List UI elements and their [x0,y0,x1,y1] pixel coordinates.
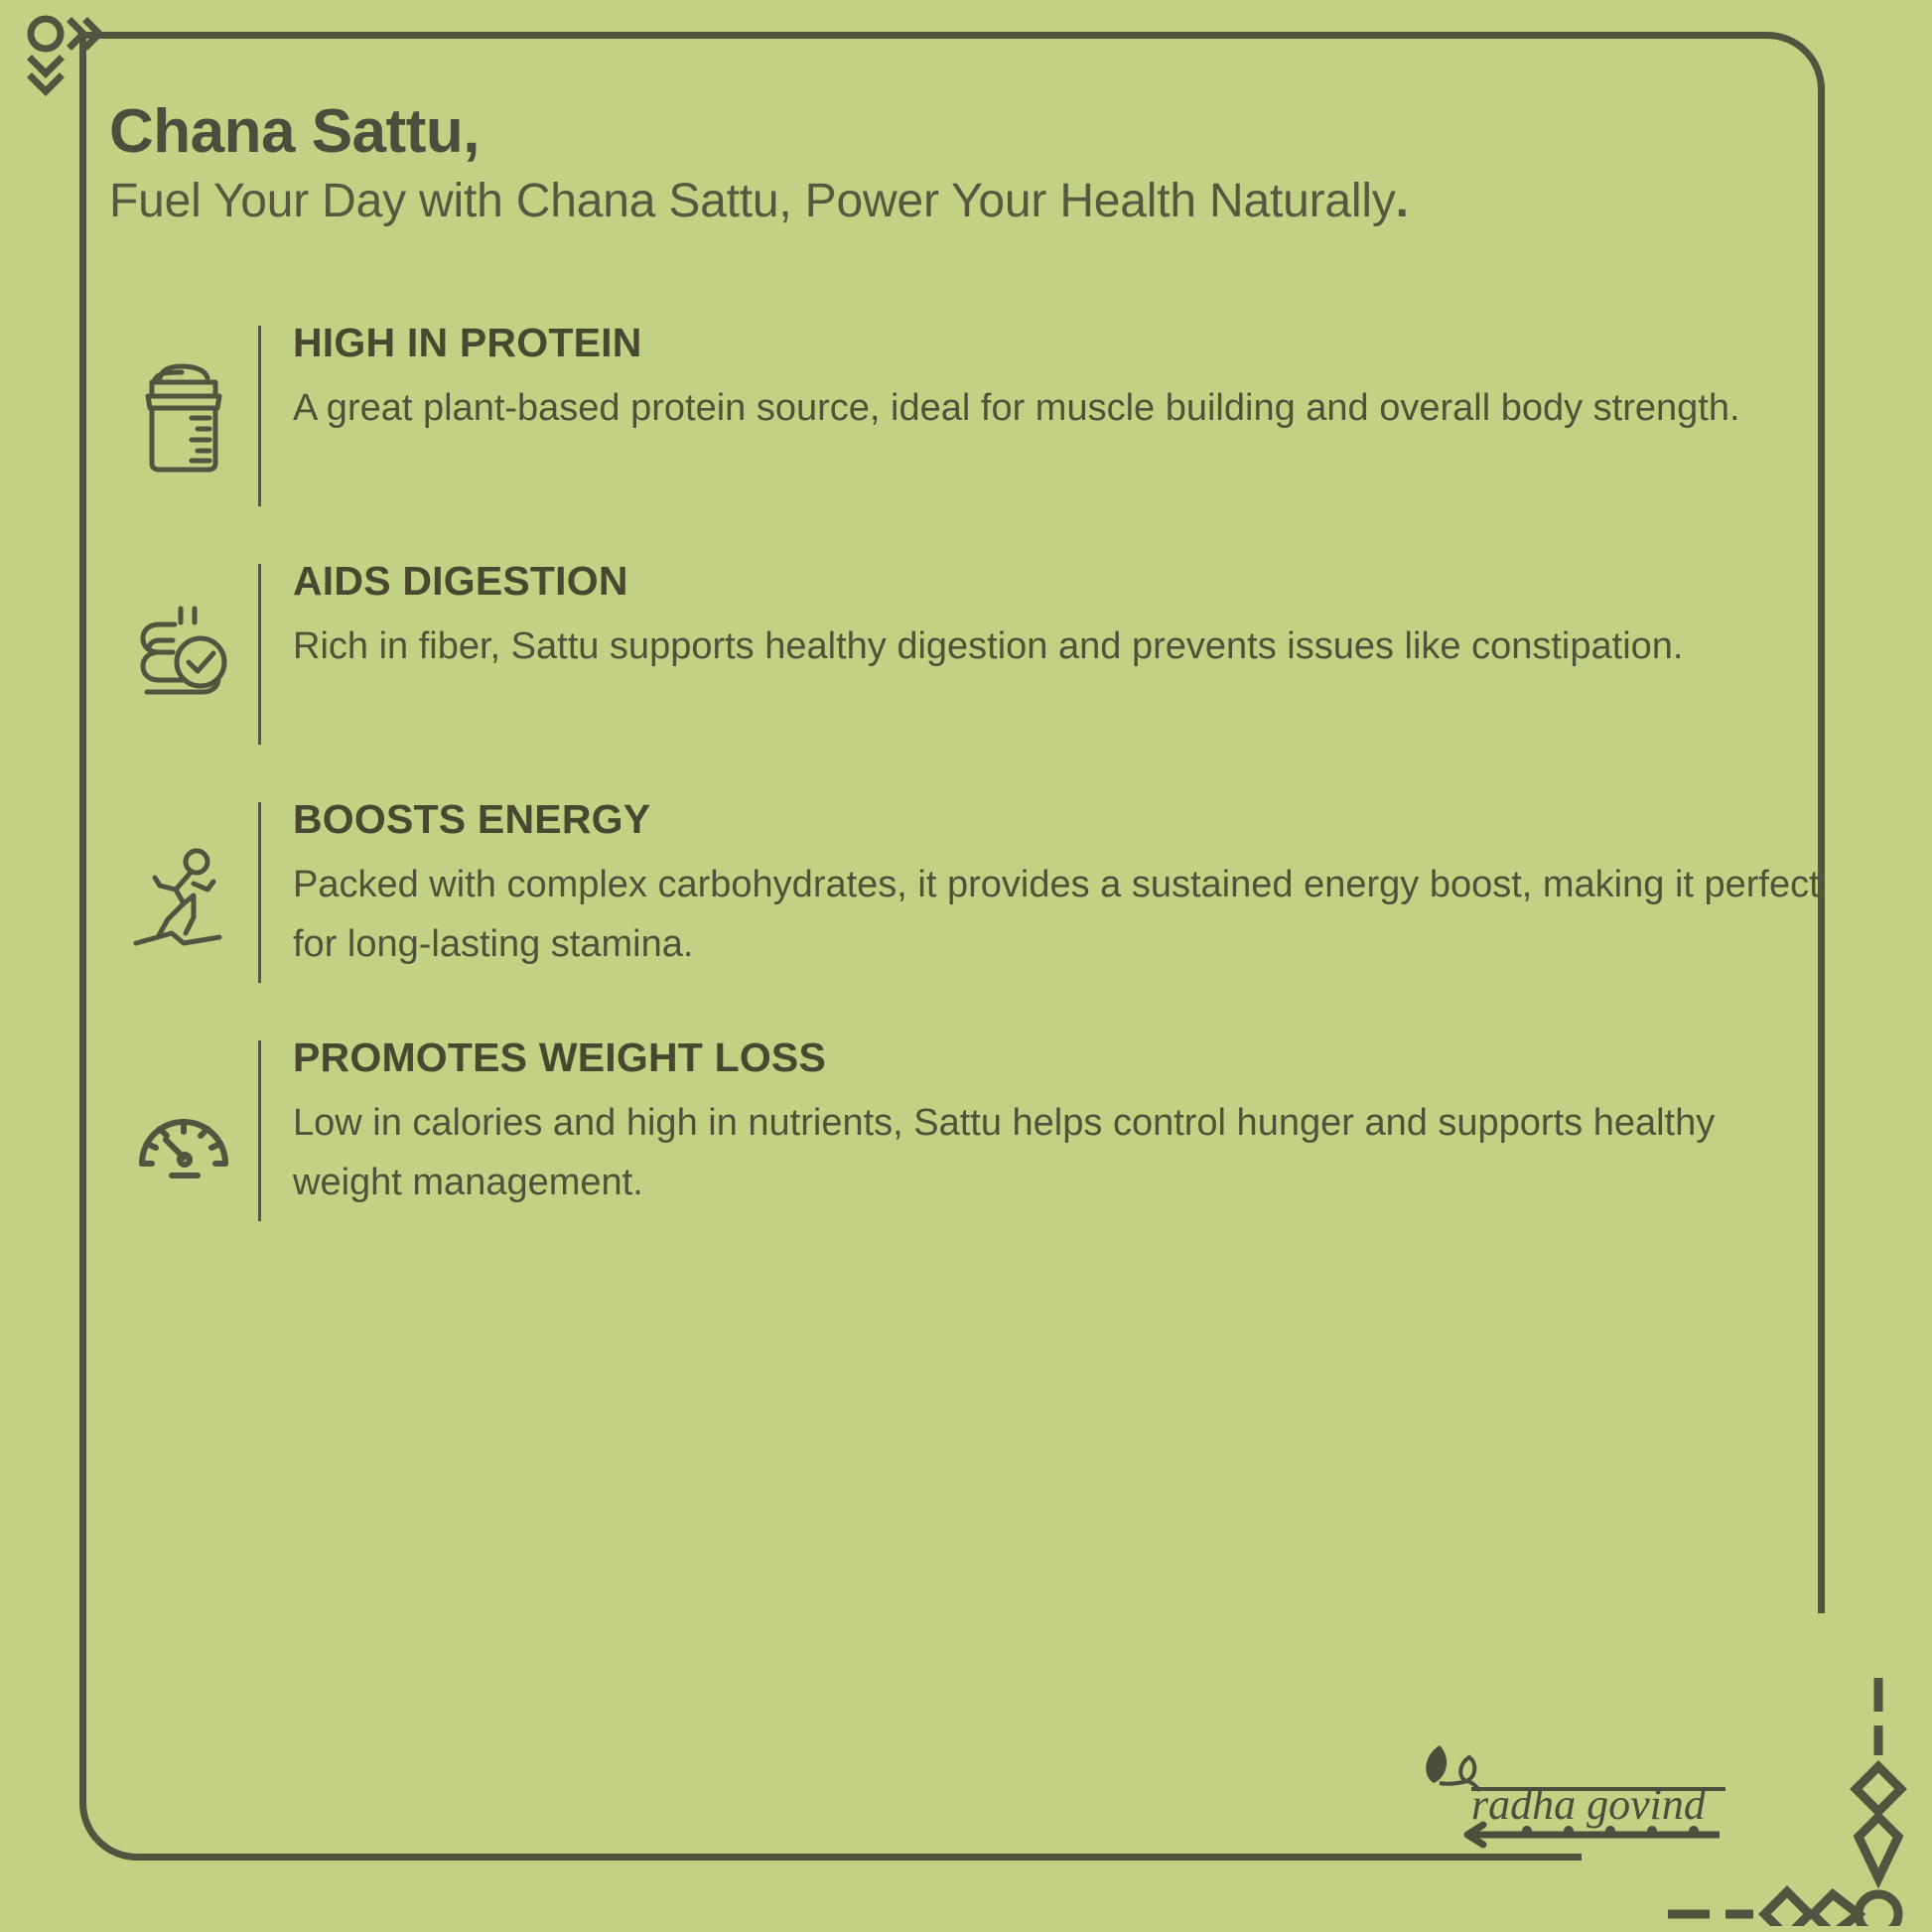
feature-body: AIDS DIGESTION Rich in fiber, Sattu supp… [261,556,1827,676]
check-mark-icon [189,653,213,671]
brand-logo: radha govind [1410,1731,1737,1861]
feature-body: HIGH IN PROTEIN A great plant-based prot… [261,318,1827,438]
feature-item: BOOSTS ENERGY Packed with complex carboh… [109,794,1827,993]
frame-bottom-edge [132,1854,1582,1861]
feature-title: AIDS DIGESTION [293,558,1827,605]
frame-corner-top-right [1765,32,1825,91]
page-subtitle-period: . [1396,175,1409,227]
poster-canvas: Chana Sattu, Fuel Your Day with Chana Sa… [0,0,1932,1932]
feature-body: PROMOTES WEIGHT LOSS Low in calories and… [261,1033,1827,1212]
running-person-icon [124,834,243,953]
feature-item: HIGH IN PROTEIN A great plant-based prot… [109,318,1827,516]
frame-left-edge [79,32,86,1804]
page-title: Chana Sattu, [109,99,1698,164]
feature-icon-slot [109,601,258,710]
kite-down-icon [1859,1817,1898,1878]
weight-scale-gauge-icon [128,1082,239,1181]
feature-icon-slot [109,1082,258,1181]
feature-body: BOOSTS ENERGY Packed with complex carboh… [261,794,1827,974]
feature-description: A great plant-based protein source, idea… [293,378,1827,438]
feature-title: HIGH IN PROTEIN [293,320,1827,366]
feature-title: PROMOTES WEIGHT LOSS [293,1035,1827,1081]
feature-icon-slot [109,358,258,476]
header: Chana Sattu, Fuel Your Day with Chana Sa… [109,99,1698,230]
shaker-bottle-icon [130,358,237,476]
small-diamond-outline-icon [1764,1891,1809,1926]
page-subtitle-text: Fuel Your Day with Chana Sattu, Power Yo… [109,175,1396,227]
double-chevron-down-icon [32,60,60,91]
feature-item: PROMOTES WEIGHT LOSS Low in calories and… [109,1033,1827,1231]
feature-description: Rich in fiber, Sattu supports healthy di… [293,617,1827,676]
double-chevron-right-icon [71,22,99,46]
feature-icon-slot [109,834,258,953]
feature-description: Packed with complex carbohydrates, it pr… [293,855,1827,974]
frame-top-edge [79,32,1767,39]
page-subtitle: Fuel Your Day with Chana Sattu, Power Yo… [109,174,1698,230]
circle-outline-icon [31,19,61,49]
kite-right-icon [1813,1894,1859,1926]
diamond-outline-icon [1856,1766,1900,1811]
digestion-check-icon [129,601,238,710]
feature-description: Low in calories and high in nutrients, S… [293,1093,1827,1212]
brand-logo-mark: radha govind [1410,1731,1737,1861]
frame-corner-bottom-left [79,1801,139,1861]
feature-title: BOOSTS ENERGY [293,796,1827,843]
feature-list: HIGH IN PROTEIN A great plant-based prot… [109,318,1827,1271]
brand-name-text: radha govind [1471,1780,1707,1829]
check-circle-icon [177,638,224,686]
circle-outline-corner-icon [1859,1894,1898,1926]
feature-item: AIDS DIGESTION Rich in fiber, Sattu supp… [109,556,1827,755]
